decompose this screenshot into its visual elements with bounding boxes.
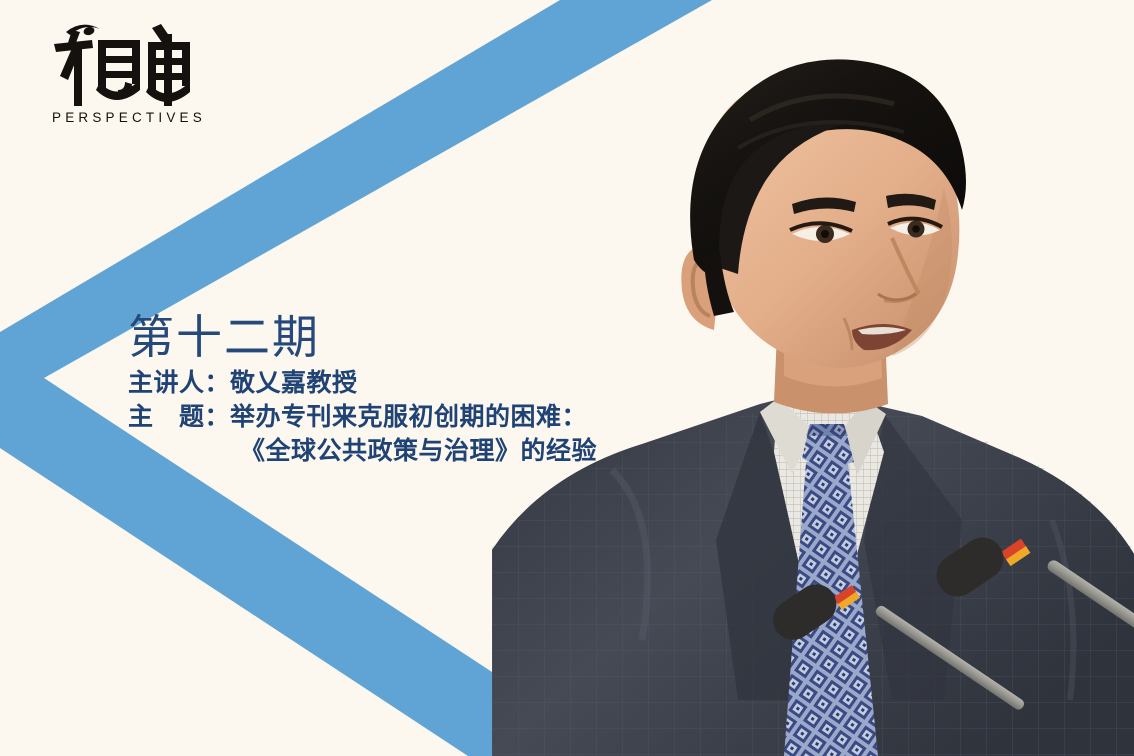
poster-canvas: PERSPECTIVES 第十二期 主讲人：敬乂嘉教授 主 题：举办专刊来克服初… [0,0,1134,756]
speaker-portrait [492,0,1134,756]
brand-logo: PERSPECTIVES [48,18,223,138]
logo-subtitle: PERSPECTIVES [52,110,223,125]
logo-cn-mark [48,18,198,108]
